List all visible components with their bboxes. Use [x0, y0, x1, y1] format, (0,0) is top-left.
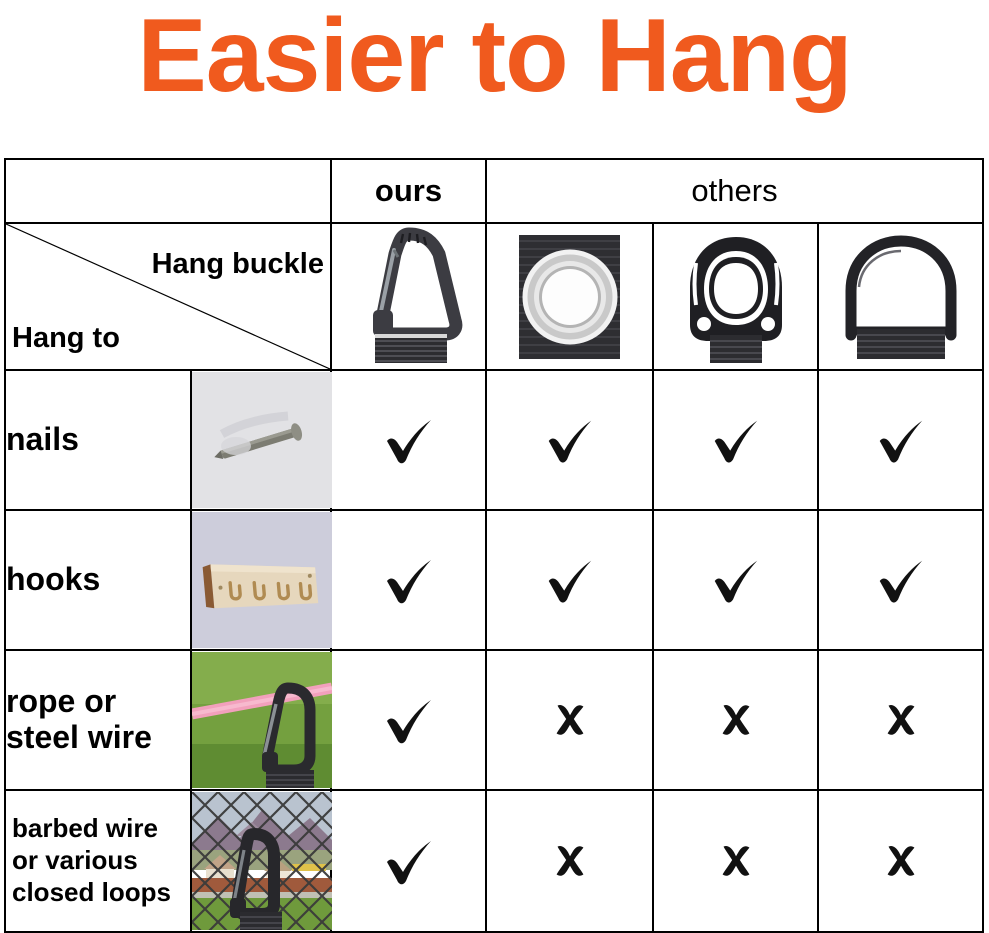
- check-icon: [379, 550, 439, 610]
- cell-other2-rope: [653, 650, 818, 790]
- cross-icon: [878, 697, 924, 743]
- cell-other3-hooks: [818, 510, 983, 650]
- wall-hook-rack-photo-icon: [192, 512, 332, 648]
- table-row: nails: [5, 370, 983, 510]
- chain-link-fence-photo-icon: [192, 792, 332, 930]
- axis-label-rows: Hang to: [12, 322, 120, 355]
- other-plastic-d-loop-icon: [670, 229, 801, 365]
- buckle-image-other-metal-grommet: [486, 223, 653, 370]
- cross-icon: [547, 838, 593, 884]
- other-d-ring-icon: [833, 229, 969, 365]
- cell-other1-rope: [486, 650, 653, 790]
- check-icon: [379, 831, 439, 891]
- check-icon: [541, 551, 599, 609]
- row-label-hooks: hooks: [5, 510, 191, 650]
- table-row: rope or steel wire: [5, 650, 983, 790]
- thumb-chain-link-fence-photo: [191, 790, 331, 932]
- check-icon: [707, 551, 765, 609]
- row-label-line: or various: [12, 845, 190, 877]
- cell-ours-hooks: [331, 510, 486, 650]
- cell-other1-hooks: [486, 510, 653, 650]
- row-label-line: steel wire: [6, 720, 190, 756]
- row-label-line: closed loops: [12, 877, 190, 909]
- nail-photo-icon: [192, 372, 332, 508]
- cell-other1-nails: [486, 370, 653, 510]
- comparison-infographic: Easier to Hang ours others Hang buckle H…: [0, 0, 989, 932]
- cell-other2-nails: [653, 370, 818, 510]
- buckle-image-row: Hang buckle Hang to: [5, 223, 983, 370]
- row-label-barbed-wire: barbed wire or various closed loops: [5, 790, 191, 932]
- cell-other1-barbed-wire: [486, 790, 653, 932]
- check-icon: [872, 551, 930, 609]
- table-header-row: ours others: [5, 159, 983, 223]
- cross-icon: [547, 697, 593, 743]
- cell-other3-nails: [818, 370, 983, 510]
- buckle-image-ours-carabiner-hook: [331, 223, 486, 370]
- thumb-rope-photo: [191, 650, 331, 790]
- page-title: Easier to Hang: [0, 2, 989, 112]
- header-others: others: [486, 159, 983, 223]
- cross-icon: [713, 697, 759, 743]
- row-label-nails: nails: [5, 370, 191, 510]
- hang-comparison-table: ours others Hang buckle Hang to: [4, 158, 984, 933]
- header-blank-cell: [5, 159, 331, 223]
- row-label-rope-or-steel-wire: rope or steel wire: [5, 650, 191, 790]
- cell-ours-barbed-wire: [331, 790, 486, 932]
- cross-icon: [878, 838, 924, 884]
- cell-other3-rope: [818, 650, 983, 790]
- cell-other3-barbed-wire: [818, 790, 983, 932]
- check-icon: [379, 690, 439, 750]
- check-icon: [707, 411, 765, 469]
- other-metal-grommet-icon: [504, 229, 635, 365]
- axis-corner-cell: Hang buckle Hang to: [5, 223, 331, 370]
- cell-ours-nails: [331, 370, 486, 510]
- check-icon: [379, 410, 439, 470]
- buckle-image-other-d-ring: [818, 223, 983, 370]
- cell-ours-rope: [331, 650, 486, 790]
- rope-photo-icon: [192, 652, 332, 788]
- check-icon: [872, 411, 930, 469]
- thumb-nail-photo: [191, 370, 331, 510]
- cell-other2-hooks: [653, 510, 818, 650]
- ours-carabiner-hook-icon: [351, 224, 467, 364]
- row-label-line: rope or: [6, 684, 190, 720]
- axis-label-columns: Hang buckle: [152, 248, 324, 281]
- cell-other2-barbed-wire: [653, 790, 818, 932]
- check-icon: [541, 411, 599, 469]
- table-row: barbed wire or various closed loops: [5, 790, 983, 932]
- header-ours: ours: [331, 159, 486, 223]
- row-label-line: barbed wire: [12, 813, 190, 845]
- buckle-image-other-plastic-d-loop: [653, 223, 818, 370]
- cross-icon: [713, 838, 759, 884]
- thumb-wall-hook-rack-photo: [191, 510, 331, 650]
- table-row: hooks: [5, 510, 983, 650]
